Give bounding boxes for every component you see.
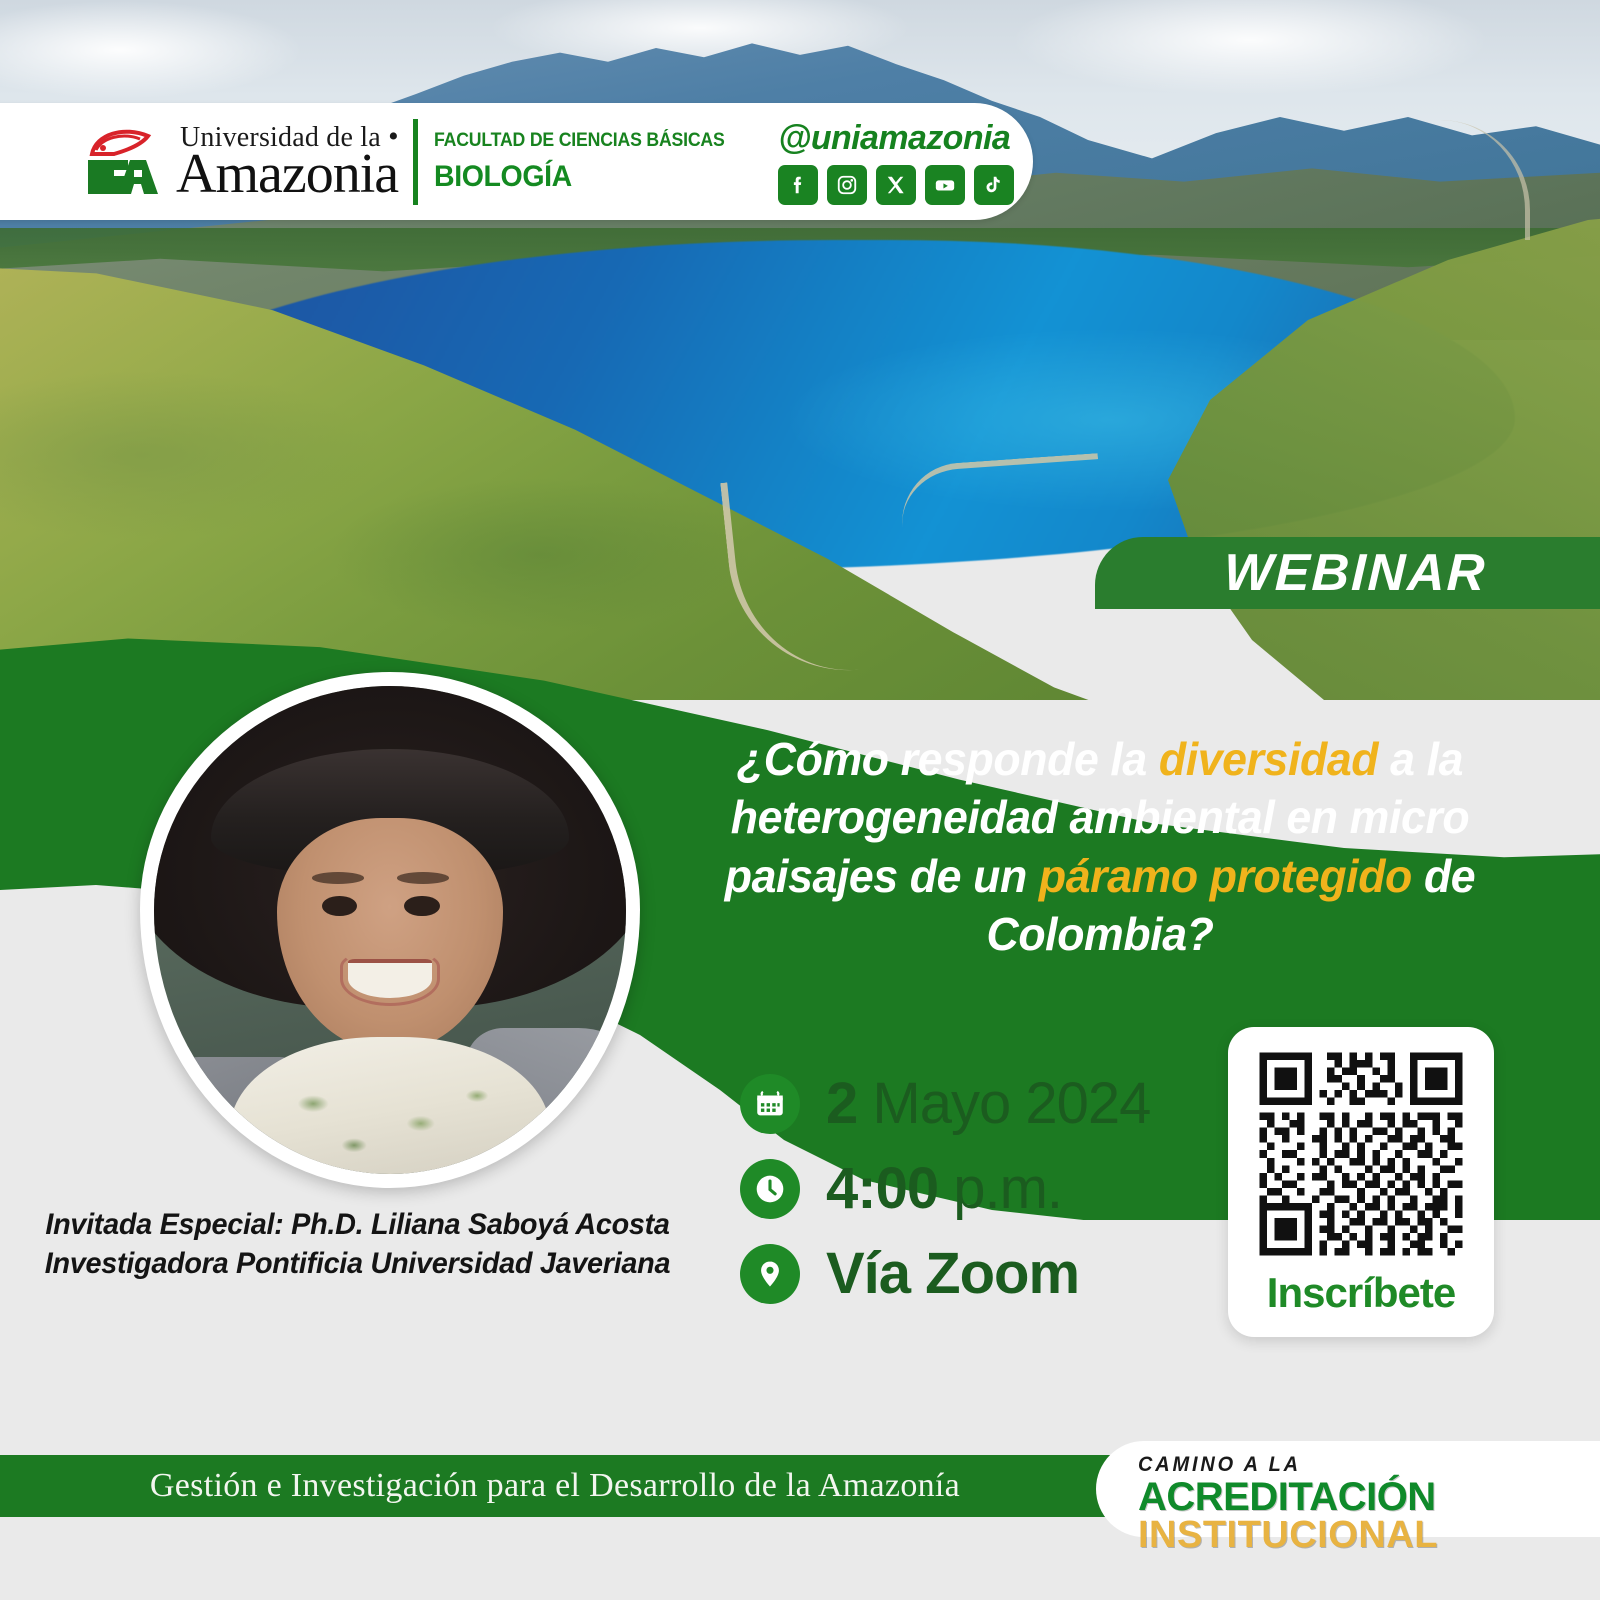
header-bar: Universidad de la • Amazonia FACULTAD DE… — [0, 103, 1033, 220]
qr-code-icon[interactable] — [1252, 1045, 1470, 1263]
brand-block: Universidad de la • Amazonia — [84, 122, 399, 202]
location-value: Vía Zoom — [826, 1241, 1079, 1306]
portrait-frame — [140, 672, 640, 1188]
webinar-title: ¿Cómo responde la diversidad a la hetero… — [702, 730, 1497, 964]
detail-text-date: 2 Mayo 2024 — [826, 1070, 1150, 1137]
x-twitter-icon[interactable] — [876, 165, 916, 205]
university-toucan-logo-icon — [84, 124, 170, 200]
faculty-name: FACULTAD DE CIENCIAS BÁSICAS — [434, 130, 725, 152]
speaker-caption: Invitada Especial: Ph.D. Liliana Saboyá … — [14, 1205, 700, 1283]
footer-slogan: Gestión e Investigación para el Desarrol… — [0, 1455, 1110, 1517]
time-meridiem: p.m. — [938, 1156, 1062, 1221]
date-day: 2 — [826, 1071, 857, 1136]
detail-row-date: 2 Mayo 2024 — [740, 1070, 1150, 1137]
brand-line-2: Amazonia — [176, 146, 399, 202]
calendar-icon — [740, 1074, 800, 1134]
portrait-image — [154, 686, 626, 1174]
social-handle[interactable]: @uniamazonia — [778, 119, 1010, 158]
accreditation-line-1: CAMINO A LA — [1138, 1453, 1592, 1477]
title-part-1: ¿Cómo responde la — [737, 733, 1159, 785]
brand-text: Universidad de la • Amazonia — [176, 122, 399, 202]
qr-registration-card[interactable]: Inscríbete — [1228, 1027, 1494, 1337]
webinar-label: WEBINAR — [1223, 543, 1488, 603]
clock-icon — [740, 1159, 800, 1219]
portrait-strap — [163, 1096, 220, 1174]
social-block: @uniamazonia — [778, 119, 1014, 205]
qr-label[interactable]: Inscríbete — [1267, 1269, 1455, 1317]
social-icons-row — [778, 165, 1014, 205]
portrait-eye-left — [322, 896, 357, 916]
faculty-block: FACULTAD DE CIENCIAS BÁSICAS BIOLOGÍA — [434, 130, 746, 194]
instagram-icon[interactable] — [827, 165, 867, 205]
portrait-face — [277, 818, 504, 1052]
speaker-affiliation-line: Investigadora Pontificia Universidad Jav… — [14, 1244, 700, 1283]
poster-canvas: Universidad de la • Amazonia FACULTAD DE… — [0, 0, 1600, 1600]
webinar-badge: WEBINAR — [1095, 537, 1600, 609]
detail-text-time: 4:00 p.m. — [826, 1155, 1062, 1222]
accreditation-badge: CAMINO A LA ACREDITACIÓN INSTITUCIONAL — [1096, 1441, 1600, 1537]
portrait-eye-right — [404, 896, 439, 916]
title-highlight-1: diversidad — [1159, 733, 1378, 785]
accreditation-line-3: INSTITUCIONAL — [1138, 1514, 1600, 1557]
detail-row-location: Vía Zoom — [740, 1240, 1150, 1307]
date-rest: Mayo 2024 — [857, 1071, 1150, 1136]
header-divider — [413, 119, 418, 205]
youtube-icon[interactable] — [925, 165, 965, 205]
detail-text-location: Vía Zoom — [826, 1240, 1079, 1307]
location-pin-icon — [740, 1244, 800, 1304]
time-value: 4:00 — [826, 1156, 938, 1221]
facebook-icon[interactable] — [778, 165, 818, 205]
speaker-portrait — [140, 672, 640, 1188]
detail-row-time: 4:00 p.m. — [740, 1155, 1150, 1222]
title-highlight-2: páramo protegido — [1039, 850, 1412, 902]
speaker-name-line: Invitada Especial: Ph.D. Liliana Saboyá … — [14, 1205, 700, 1244]
program-name: BIOLOGÍA — [434, 160, 731, 194]
event-details: 2 Mayo 2024 4:00 p.m. Vía — [740, 1070, 1150, 1325]
tiktok-icon[interactable] — [974, 165, 1014, 205]
